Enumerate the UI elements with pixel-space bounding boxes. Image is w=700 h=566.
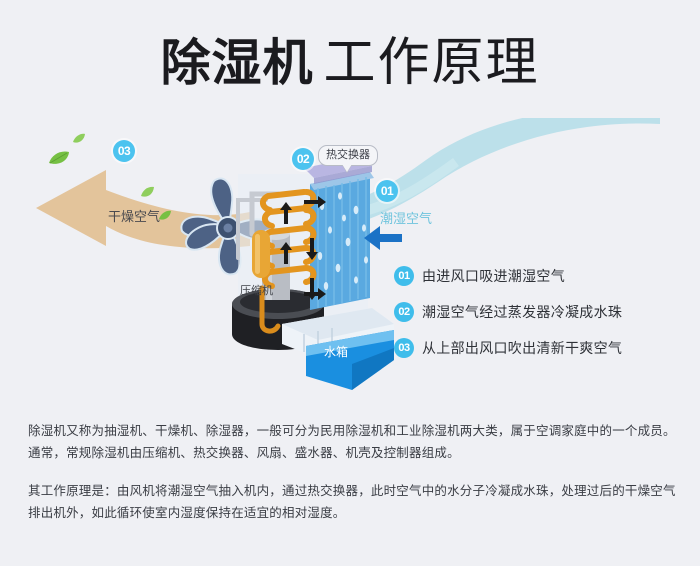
diagram-badge-02: 02 [292, 148, 314, 170]
legend-item: 03 从上部出风口吹出清新干爽空气 [394, 330, 684, 366]
leaf-icon [72, 133, 86, 144]
label-humid-air: 潮湿空气 [380, 208, 432, 227]
page-title: 除湿机工作原理 [0, 34, 700, 92]
body-copy: 除湿机又称为抽湿机、干燥机、除湿器，一般可分为民用除湿机和工业除湿机两大类，属于… [28, 420, 678, 524]
legend-text-01: 由进风口吸进潮湿空气 [422, 266, 565, 286]
legend-item: 01 由进风口吸进潮湿空气 [394, 258, 684, 294]
legend-list: 01 由进风口吸进潮湿空气 02 潮湿空气经过蒸发器冷凝成水珠 03 从上部出风… [394, 258, 684, 366]
leaf-icon [140, 186, 155, 198]
dehumidifier-unit-illustration [222, 138, 402, 390]
paragraph-principle: 其工作原理是：由风机将潮湿空气抽入机内，通过热交换器，此时空气中的水分子冷凝成水… [28, 480, 678, 524]
diagram-badge-01: 01 [376, 180, 398, 202]
legend-badge-01: 01 [394, 266, 414, 286]
paragraph-definition: 除湿机又称为抽湿机、干燥机、除湿器，一般可分为民用除湿机和工业除湿机两大类，属于… [28, 420, 678, 464]
legend-badge-03: 03 [394, 338, 414, 358]
label-compressor: 压缩机 [240, 282, 273, 298]
legend-item: 02 潮湿空气经过蒸发器冷凝成水珠 [394, 294, 684, 330]
diagram-badge-03: 03 [113, 140, 135, 162]
callout-tail-icon [342, 164, 352, 172]
page-title-light: 工作原理 [323, 34, 539, 92]
leaf-icon [158, 210, 172, 221]
infographic-page: 除湿机工作原理 [0, 0, 700, 566]
leaf-icon [48, 150, 70, 166]
label-water-tank: 水箱 [324, 343, 348, 360]
callout-heat-exchanger: 热交换器 [318, 145, 378, 166]
legend-badge-02: 02 [394, 302, 414, 322]
legend-text-02: 潮湿空气经过蒸发器冷凝成水珠 [422, 302, 622, 322]
label-dry-air: 干燥空气 [108, 206, 160, 225]
page-title-strong: 除湿机 [160, 35, 313, 91]
legend-text-03: 从上部出风口吹出清新干爽空气 [422, 338, 622, 358]
